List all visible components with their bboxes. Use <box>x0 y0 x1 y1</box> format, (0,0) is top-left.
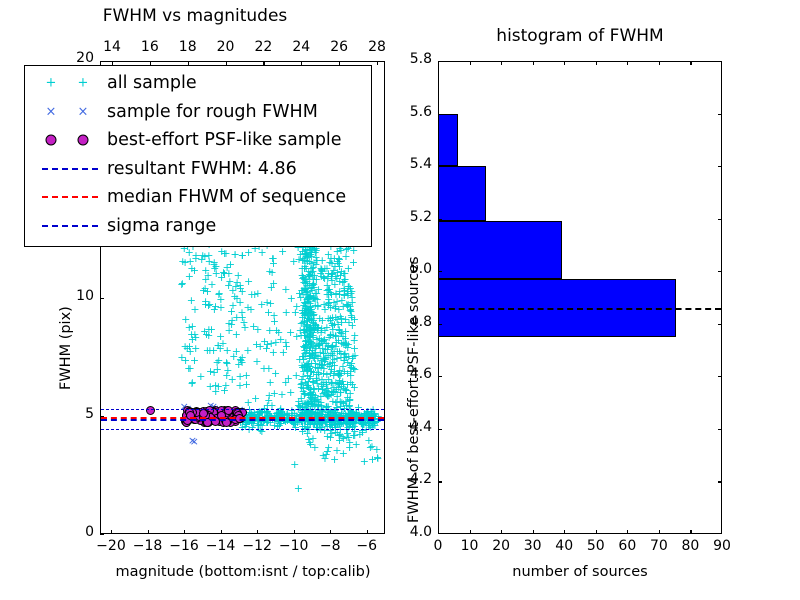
scatter-point-all: + <box>244 247 253 258</box>
tick-mark <box>367 530 368 534</box>
scatter-xtick-bottom: −20 <box>96 538 126 554</box>
histogram-xtick: 50 <box>587 538 605 554</box>
scatter-point-all: + <box>325 332 334 343</box>
scatter-xtick-top: 24 <box>292 39 310 55</box>
scatter-point-all: + <box>322 385 331 396</box>
legend-entry: resultant FWHM: 4.86 <box>33 155 297 183</box>
scatter-point-all: + <box>305 278 314 289</box>
histogram-xtick: 70 <box>650 538 668 554</box>
circle-icon <box>46 135 57 146</box>
scatter-point-all: + <box>271 337 280 348</box>
histogram-xtick: 0 <box>434 538 443 554</box>
scatter-xtick-top: 28 <box>368 39 386 55</box>
scatter-point-all: + <box>217 272 226 283</box>
tick-mark <box>438 219 442 220</box>
scatter-point-all: + <box>181 355 190 366</box>
legend-entry: sigma range <box>33 212 216 240</box>
scatter-point-all: + <box>210 367 219 378</box>
scatter-point-all: + <box>335 325 344 336</box>
fwhm-marker-line <box>439 308 721 310</box>
scatter-point-all: + <box>214 340 223 351</box>
scatter-point-all: + <box>343 422 352 433</box>
scatter-xtick-bottom: −12 <box>242 538 272 554</box>
sigma-range-upper-line <box>101 409 384 410</box>
tick-mark <box>438 533 442 534</box>
scatter-xtick-top: 14 <box>103 39 121 55</box>
tick-mark <box>718 481 722 482</box>
scatter-point-all: + <box>286 327 295 338</box>
scatter-point-all: + <box>330 366 339 377</box>
tick-mark <box>100 298 104 299</box>
histogram-xtick: 90 <box>713 538 731 554</box>
histogram-bar <box>439 114 458 167</box>
histogram-ytick: 5.2 <box>410 209 432 225</box>
scatter-point-all: + <box>281 377 290 388</box>
tick-mark <box>627 61 628 65</box>
scatter-point-all: + <box>360 456 369 467</box>
scatter-point-all: + <box>289 256 298 267</box>
tick-mark <box>330 530 331 534</box>
histogram-ytick: 5.4 <box>410 156 432 172</box>
legend-label: resultant FWHM: 4.86 <box>107 159 297 179</box>
dashed-line-icon <box>42 168 98 170</box>
scatter-point-all: + <box>305 302 314 313</box>
histogram-ytick: 4.0 <box>410 524 432 540</box>
cross-icon: × <box>78 105 89 118</box>
scatter-point-all: + <box>355 429 364 440</box>
scatter-point-all: + <box>188 321 197 332</box>
scatter-point-all: + <box>190 304 199 315</box>
scatter-xtick-top: 22 <box>255 39 273 55</box>
histogram-bar <box>439 166 486 221</box>
histogram-xtick: 60 <box>618 538 636 554</box>
scatter-point-all: + <box>323 446 332 457</box>
tick-mark <box>438 324 442 325</box>
tick-mark <box>470 61 471 65</box>
scatter-point-all: + <box>292 370 301 381</box>
tick-mark <box>100 416 104 417</box>
legend-marker-group <box>33 126 107 154</box>
scatter-point-all: + <box>348 320 357 331</box>
scatter-point-all: + <box>311 350 320 361</box>
tick-mark <box>659 530 660 534</box>
tick-mark <box>111 530 112 534</box>
scatter-point-all: + <box>305 322 314 333</box>
scatter-point-all: + <box>196 371 205 382</box>
tick-mark <box>438 271 442 272</box>
tick-mark <box>184 530 185 534</box>
scatter-point-all: + <box>314 383 323 394</box>
tick-mark <box>501 61 502 65</box>
scatter-xtick-bottom: −6 <box>356 538 377 554</box>
legend-label: median FHWM of sequence <box>107 187 346 207</box>
legend-marker-group: ++ <box>33 69 107 97</box>
legend-entry: ++all sample <box>33 69 197 97</box>
scatter-xtick-top: 16 <box>141 39 159 55</box>
tick-mark <box>718 219 722 220</box>
legend-label: sample for rough FWHM <box>107 102 318 122</box>
legend-marker-group <box>33 212 107 240</box>
histogram-xtick: 10 <box>461 538 479 554</box>
resultant-fwhm-line <box>101 419 384 421</box>
tick-mark <box>100 534 104 535</box>
tick-mark <box>377 61 378 65</box>
scatter-point-all: + <box>185 271 194 282</box>
right-panel-title: histogram of FWHM <box>496 26 663 46</box>
tick-mark <box>718 114 722 115</box>
plot-legend: ++all sample××sample for rough FWHMbest-… <box>24 65 372 247</box>
tick-mark <box>690 530 691 534</box>
tick-mark <box>596 61 597 65</box>
scatter-point-all: + <box>294 483 303 494</box>
tick-mark <box>438 429 442 430</box>
scatter-point-all: + <box>265 266 274 277</box>
scatter-point-all: + <box>346 306 355 317</box>
scatter-point-all: + <box>232 329 241 340</box>
legend-entry: best-effort PSF-like sample <box>33 126 342 154</box>
legend-entry: ××sample for rough FWHM <box>33 98 318 126</box>
scatter-point-all: + <box>269 278 278 289</box>
scatter-point-all: + <box>347 286 356 297</box>
scatter-point-all: + <box>209 259 218 270</box>
tick-mark <box>718 533 722 534</box>
scatter-point-all: + <box>202 329 211 340</box>
scatter-point-all: + <box>291 307 300 318</box>
scatter-xtick-top: 18 <box>179 39 197 55</box>
scatter-xtick-top: 26 <box>330 39 348 55</box>
scatter-point-all: + <box>304 376 313 387</box>
tick-mark <box>438 61 442 62</box>
scatter-point-all: + <box>257 426 266 437</box>
scatter-point-all: + <box>350 350 359 361</box>
tick-mark <box>564 530 565 534</box>
scatter-xtick-bottom: −16 <box>169 538 199 554</box>
scatter-point-all: + <box>366 442 375 453</box>
tick-mark <box>659 61 660 65</box>
scatter-point-all: + <box>308 433 317 444</box>
scatter-point-all: + <box>349 363 358 374</box>
histogram-bar <box>439 221 562 279</box>
scatter-point-all: + <box>321 352 330 363</box>
histogram-xtick: 20 <box>492 538 510 554</box>
histogram-xlabel: number of sources <box>512 564 648 580</box>
tick-mark <box>718 166 722 167</box>
scatter-point-all: + <box>237 357 246 368</box>
scatter-point-all: + <box>222 357 231 368</box>
scatter-point-all: + <box>282 307 291 318</box>
scatter-xtick-top: 20 <box>217 39 235 55</box>
scatter-xtick-bottom: −14 <box>206 538 236 554</box>
scatter-point-all: + <box>244 276 253 287</box>
scatter-point-all: + <box>224 318 233 329</box>
plus-icon: + <box>78 77 89 90</box>
scatter-point-all: + <box>201 274 210 285</box>
scatter-point-all: + <box>233 277 242 288</box>
scatter-point-all: + <box>335 346 344 357</box>
left-panel-title: FWHM vs magnitudes <box>103 6 288 26</box>
tick-mark <box>438 481 442 482</box>
cross-icon: × <box>46 105 57 118</box>
tick-mark <box>564 61 565 65</box>
dashdot-line-icon <box>42 225 98 227</box>
scatter-point-all: + <box>222 370 231 381</box>
scatter-point-all: + <box>304 266 313 277</box>
scatter-xtick-bottom: −10 <box>279 538 309 554</box>
tick-mark <box>533 61 534 65</box>
scatter-point-all: + <box>290 459 299 470</box>
legend-label: sigma range <box>107 216 216 236</box>
scatter-point-all: + <box>183 343 192 354</box>
scatter-point-all: + <box>344 263 353 274</box>
scatter-point-all: + <box>198 250 207 261</box>
scatter-point-all: + <box>324 294 333 305</box>
scatter-ytick: 5 <box>85 406 94 422</box>
histogram-xtick: 80 <box>682 538 700 554</box>
legend-entry: median FHWM of sequence <box>33 183 346 211</box>
scatter-point-all: + <box>191 343 200 354</box>
tick-mark <box>627 530 628 534</box>
scatter-point-all: + <box>268 253 277 264</box>
tick-mark <box>221 530 222 534</box>
scatter-point-all: + <box>264 363 273 374</box>
scatter-point-all: + <box>341 251 350 262</box>
scatter-ytick: 20 <box>76 50 94 66</box>
tick-mark <box>596 530 597 534</box>
tick-mark <box>438 166 442 167</box>
scatter-point-all: + <box>282 341 291 352</box>
scatter-xlabel: magnitude (bottom:isnt / top:calib) <box>115 564 370 580</box>
tick-mark <box>470 530 471 534</box>
scatter-point-all: + <box>242 370 251 381</box>
histogram-plot-area <box>439 62 721 533</box>
histogram-ytick: 5.6 <box>410 104 432 120</box>
histogram-xtick: 30 <box>524 538 542 554</box>
tick-mark <box>718 271 722 272</box>
histogram-ylabel: FWHM of best-effort PSF-like sources <box>406 256 422 523</box>
plus-icon: + <box>46 77 57 90</box>
legend-marker-group: ×× <box>33 98 107 126</box>
scatter-point-all: + <box>270 388 279 399</box>
scatter-point-all: + <box>272 325 281 336</box>
circle-icon <box>78 135 89 146</box>
scatter-point-all: + <box>246 304 255 315</box>
scatter-point-all: + <box>339 448 348 459</box>
legend-label: all sample <box>107 73 197 93</box>
scatter-point-all: + <box>302 251 311 262</box>
scatter-point-psf <box>146 406 155 415</box>
scatter-point-all: + <box>253 324 262 335</box>
legend-marker-group <box>33 155 107 183</box>
scatter-point-all: + <box>299 351 308 362</box>
scatter-xtick-bottom: −8 <box>320 538 341 554</box>
scatter-ytick: 0 <box>85 524 94 540</box>
scatter-point-all: + <box>178 256 187 267</box>
tick-mark <box>438 376 442 377</box>
tick-mark <box>533 530 534 534</box>
scatter-point-all: + <box>216 302 225 313</box>
tick-mark <box>501 530 502 534</box>
scatter-point-all: + <box>232 293 241 304</box>
scatter-point-rough: × <box>190 436 199 447</box>
dashed-line-icon <box>42 196 98 198</box>
tick-mark <box>294 530 295 534</box>
sigma-range-lower-line <box>101 429 384 430</box>
scatter-ylabel: FWHM (pix) <box>58 306 74 390</box>
tick-mark <box>718 61 722 62</box>
tick-mark <box>438 114 442 115</box>
scatter-xtick-bottom: −18 <box>133 538 163 554</box>
scatter-point-all: + <box>312 422 321 433</box>
scatter-point-all: + <box>287 293 296 304</box>
tick-mark <box>718 376 722 377</box>
tick-mark <box>718 429 722 430</box>
tick-mark <box>257 530 258 534</box>
legend-label: best-effort PSF-like sample <box>107 130 342 150</box>
scatter-ytick: 10 <box>76 288 94 304</box>
legend-marker-group <box>33 183 107 211</box>
scatter-point-all: + <box>316 263 325 274</box>
scatter-point-all: + <box>252 339 261 350</box>
scatter-point-all: + <box>341 384 350 395</box>
figure-canvas: FWHM vs magnitudes +++++++++++++++++++++… <box>0 0 800 600</box>
histogram-ytick: 5.8 <box>410 51 432 67</box>
tick-mark <box>690 61 691 65</box>
tick-mark <box>148 530 149 534</box>
scatter-point-all: + <box>214 381 223 392</box>
scatter-point-all: + <box>320 425 329 436</box>
tick-mark <box>718 324 722 325</box>
histogram-xtick: 40 <box>555 538 573 554</box>
scatter-point-all: + <box>257 299 266 310</box>
scatter-point-all: + <box>337 313 346 324</box>
